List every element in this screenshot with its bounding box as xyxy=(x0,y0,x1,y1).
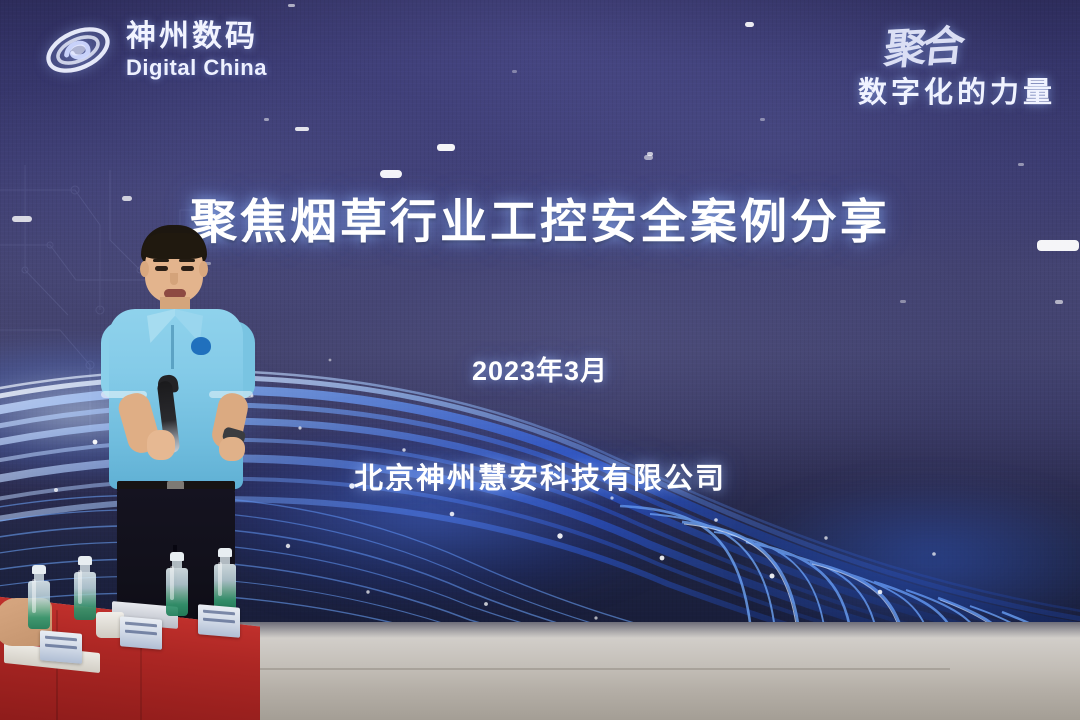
name-card-line xyxy=(203,610,235,616)
speaker-brow-left xyxy=(153,259,169,262)
brand-text: 神州数码 Digital China xyxy=(126,22,267,79)
water-bottle xyxy=(74,556,96,620)
stage-floor-seam xyxy=(250,668,950,670)
speaker-hair-front xyxy=(142,233,206,259)
speaker-eye-left xyxy=(155,266,168,271)
name-card-line xyxy=(203,618,235,624)
name-card xyxy=(40,630,82,664)
speaker-hand-left xyxy=(147,430,175,460)
brand-name-cn: 神州数码 xyxy=(126,22,267,52)
speaker-eye-right xyxy=(181,266,194,271)
name-card-line xyxy=(45,644,77,650)
name-card-line xyxy=(125,630,157,636)
bottle-cap xyxy=(170,552,184,561)
speaker-shirt-placket xyxy=(171,325,174,369)
speaker-nose xyxy=(170,273,178,285)
shirt-logo-icon xyxy=(191,337,211,355)
bottle-body xyxy=(74,572,96,620)
bottle-body xyxy=(28,581,50,629)
bottle-shine xyxy=(170,566,174,600)
bottle-body xyxy=(166,568,188,616)
bottle-cap xyxy=(32,565,46,574)
speaker-ear-right xyxy=(199,261,208,277)
name-card xyxy=(120,616,162,650)
water-bottle xyxy=(28,565,50,629)
name-card xyxy=(198,604,240,638)
slogan-brush-text: 聚合 xyxy=(881,12,964,77)
bottle-cap xyxy=(78,556,92,565)
spiral-swoosh-icon xyxy=(42,18,114,82)
bottle-shine xyxy=(218,562,222,596)
bottle-body xyxy=(214,564,236,612)
event-slogan: 聚合 数字化的力量 xyxy=(858,14,1056,111)
bottle-cap xyxy=(218,548,232,557)
speaker-hand-right xyxy=(219,437,245,461)
name-card-line xyxy=(125,622,157,628)
water-bottle xyxy=(214,548,236,612)
brand-logo: 神州数码 Digital China xyxy=(42,18,267,82)
speaker-brow-right xyxy=(179,259,195,262)
brand-name-en: Digital China xyxy=(126,57,267,79)
bottle-shine xyxy=(78,570,82,604)
screenshot-root: 聚焦烟草行业工控安全案例分享 2023年3月 北京神州慧安科技有限公司 神州数码… xyxy=(0,0,1080,720)
speaker-ear-left xyxy=(140,261,149,277)
bottle-shine xyxy=(32,579,36,613)
water-bottle xyxy=(166,552,188,616)
name-card-line xyxy=(45,636,77,642)
